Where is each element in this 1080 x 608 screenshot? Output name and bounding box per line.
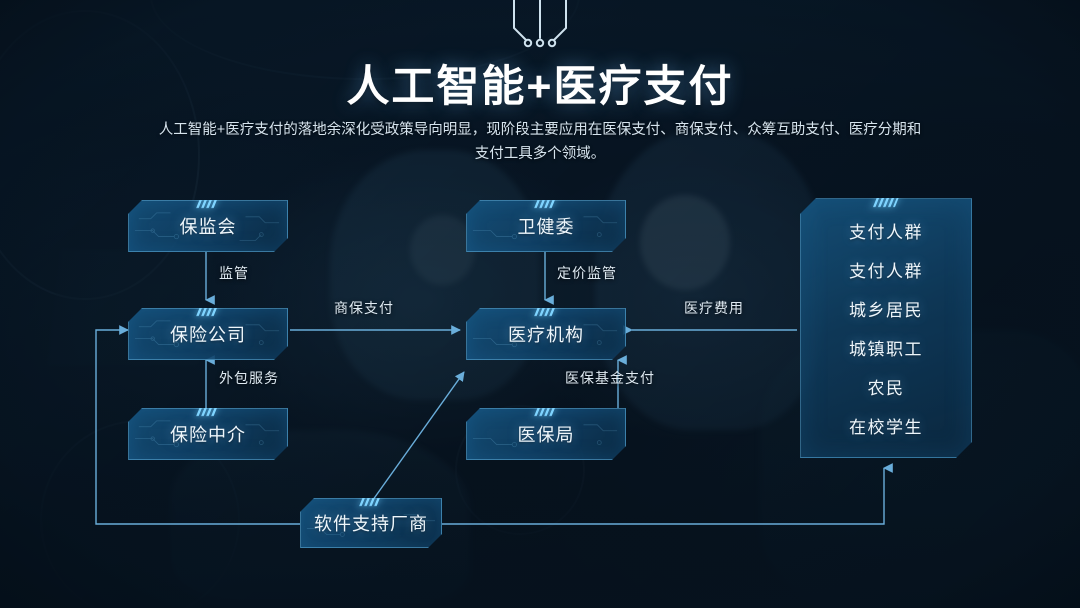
node-cbirc[interactable]: 保监会	[128, 200, 288, 252]
node-tick-icon	[534, 407, 558, 416]
panel-tick-icon	[873, 197, 899, 207]
node-label: 软件支持厂商	[314, 510, 428, 536]
node-software-vendor[interactable]: 软件支持厂商	[300, 498, 442, 548]
circuit-node-icon	[502, 0, 578, 50]
payer-groups-panel[interactable]: 支付人群 支付人群 城乡居民 城镇职工 农民 在校学生	[800, 198, 972, 458]
node-label: 保监会	[180, 213, 237, 239]
panel-item-4: 农民	[868, 374, 905, 399]
edge-label-fund-payment: 医保基金支付	[565, 368, 655, 388]
slide-root: 人工智能+医疗支付 人工智能+医疗支付的落地余深化受政策导向明显，现阶段主要应用…	[0, 0, 1080, 608]
edge-label-commercial-payment: 商保支付	[334, 298, 394, 318]
node-tick-icon	[534, 199, 558, 208]
panel-item-3: 城镇职工	[849, 335, 923, 360]
node-nhsa[interactable]: 医保局	[466, 408, 626, 460]
node-tick-icon	[196, 307, 220, 316]
edge-label-medical-cost: 医疗费用	[684, 298, 744, 318]
node-tick-icon	[359, 497, 383, 506]
node-label: 医保局	[518, 421, 575, 447]
panel-item-0: 支付人群	[849, 218, 923, 243]
node-insurance-company[interactable]: 保险公司	[128, 308, 288, 360]
node-tick-icon	[196, 199, 220, 208]
panel-item-2: 城乡居民	[849, 296, 923, 321]
edge-label-pricing-supervision: 定价监管	[557, 263, 617, 283]
node-label: 保险公司	[170, 321, 246, 347]
node-label: 医疗机构	[508, 321, 584, 347]
node-label: 卫健委	[518, 213, 575, 239]
node-insurance-agency[interactable]: 保险中介	[128, 408, 288, 460]
node-tick-icon	[534, 307, 558, 316]
page-title: 人工智能+医疗支付	[0, 52, 1080, 114]
node-medical-institution[interactable]: 医疗机构	[466, 308, 626, 360]
node-label: 保险中介	[170, 421, 246, 447]
panel-item-5: 在校学生	[849, 413, 923, 438]
node-tick-icon	[196, 407, 220, 416]
node-nhc[interactable]: 卫健委	[466, 200, 626, 252]
edge-label-outsourcing: 外包服务	[219, 368, 279, 388]
edge-label-supervision: 监管	[219, 263, 249, 283]
panel-item-1: 支付人群	[849, 257, 923, 282]
page-subtitle: 人工智能+医疗支付的落地余深化受政策导向明显，现阶段主要应用在医保支付、商保支付…	[155, 118, 925, 166]
